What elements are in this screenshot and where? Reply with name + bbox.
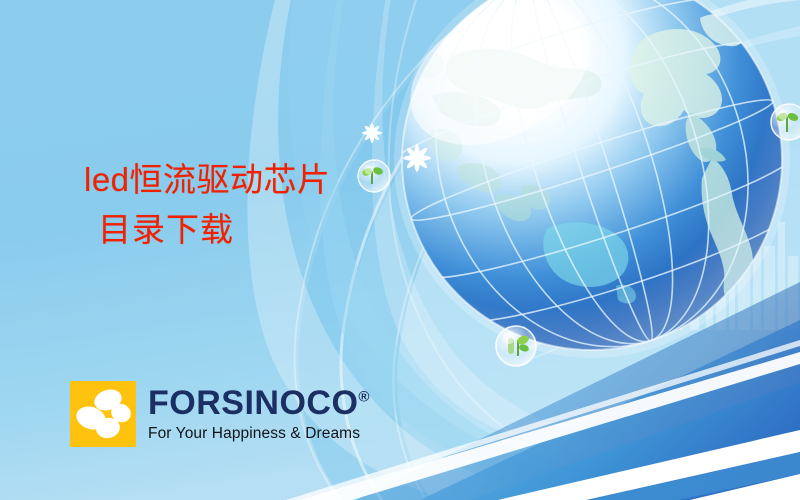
white-flower-small: [362, 123, 382, 143]
pinwheel-petals-icon: [70, 381, 136, 447]
bubble-with-sprout-upper: [358, 160, 390, 192]
logo-wordmark: FORSINOCO®: [148, 386, 370, 420]
forsinoco-pinwheel-mark-icon: [70, 381, 136, 447]
forsinoco-logo[interactable]: FORSINOCO® For Your Happiness & Dreams: [70, 381, 370, 447]
logo-wordmark-text: FORSINOCO: [148, 384, 358, 422]
headline-text: led恒流驱动芯片 目录下载: [84, 160, 331, 251]
bubble-with-sprout-lower: [496, 326, 536, 366]
registered-trademark-icon: ®: [358, 388, 370, 405]
bubble-with-sprout-right: [771, 104, 800, 140]
headline-line-2: 目录下载: [98, 210, 331, 250]
logo-tagline: For Your Happiness & Dreams: [148, 425, 370, 443]
promo-banner: led恒流驱动芯片 目录下载 FORSINOCO® For Your Happi…: [0, 0, 800, 500]
white-flower-large: [403, 144, 431, 172]
headline-line-1: led恒流驱动芯片: [84, 160, 331, 200]
logo-text-block: FORSINOCO® For Your Happiness & Dreams: [148, 386, 370, 443]
